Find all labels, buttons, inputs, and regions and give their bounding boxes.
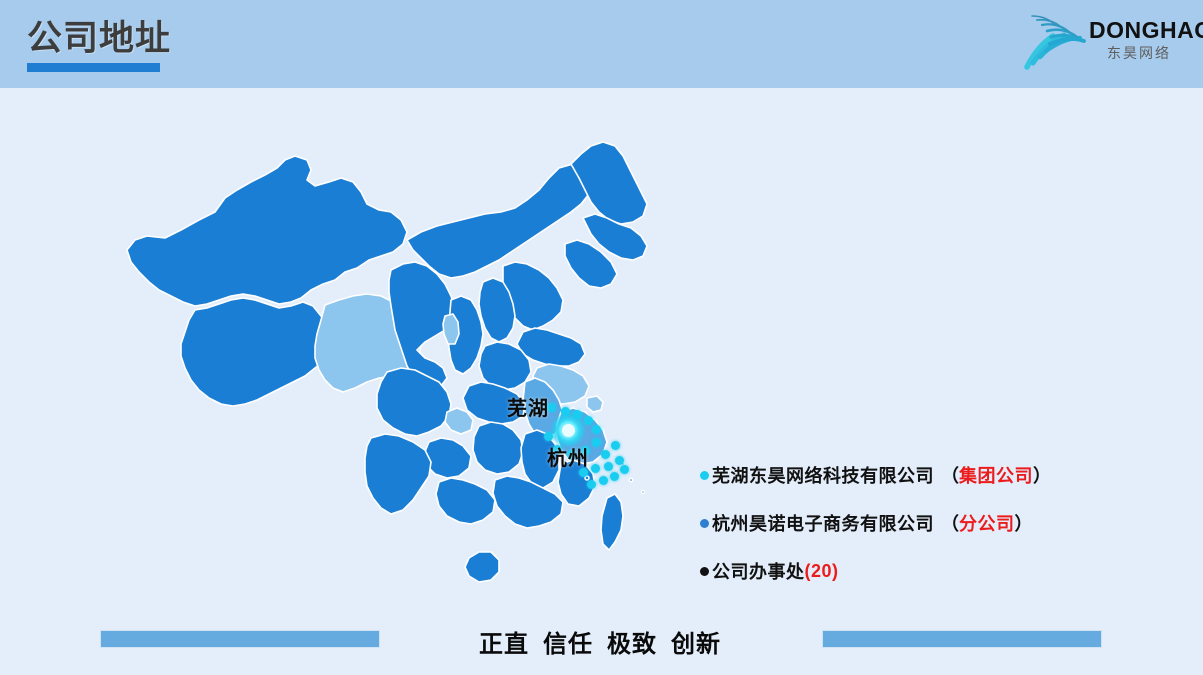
page-title: 公司地址: [27, 17, 171, 61]
company-logo: DONGHAO 东昊网络: [1013, 10, 1189, 72]
legend-label: 芜湖东昊网络科技有限公司: [712, 462, 934, 488]
office-marker[interactable]: [604, 462, 613, 471]
slogan-word-2: 信任: [543, 631, 593, 658]
headquarters-marker-core[interactable]: [562, 424, 575, 437]
legend-item-group-company: 芜湖东昊网络科技有限公司 （ 集团公司 ）: [700, 462, 1120, 488]
slogan-word-3: 极致: [607, 631, 657, 658]
legend-tag: 集团公司: [959, 462, 1033, 488]
legend-item-branch-company: 杭州昊诺电子商务有限公司 （ 分公司 ）: [700, 510, 1120, 536]
footer-bar-left: [100, 630, 380, 648]
legend: 芜湖东昊网络科技有限公司 （ 集团公司 ） 杭州昊诺电子商务有限公司 （ 分公司…: [700, 462, 1120, 584]
donghao-feather-logo-icon: [1017, 11, 1091, 71]
legend-label: 杭州昊诺电子商务有限公司: [712, 510, 934, 536]
logo-chinese-name: 东昊网络: [1089, 44, 1189, 63]
slogan-word-4: 创新: [671, 631, 721, 658]
legend-bullet-blue-icon: [700, 519, 709, 528]
office-marker[interactable]: [615, 456, 624, 465]
legend-tag: (20): [805, 561, 839, 582]
city-label-hangzhou: 杭州: [547, 442, 589, 471]
office-marker[interactable]: [592, 438, 601, 447]
page-header: 公司地址 DONGHAO 东昊网络: [0, 0, 1203, 88]
office-marker[interactable]: [601, 450, 610, 459]
office-marker[interactable]: [561, 407, 570, 416]
legend-close-paren: ）: [1033, 462, 1051, 488]
office-marker[interactable]: [611, 441, 620, 450]
city-label-wuhu: 芜湖: [507, 392, 549, 421]
legend-tag: 分公司: [959, 510, 1015, 536]
office-marker[interactable]: [599, 476, 608, 485]
office-marker[interactable]: [587, 480, 596, 489]
logo-wordmark: DONGHAO 东昊网络: [1089, 18, 1189, 63]
legend-close-paren: ）: [1015, 510, 1033, 536]
office-marker[interactable]: [592, 425, 601, 434]
footer-slogan: 正直信任极致创新: [440, 624, 760, 659]
office-marker[interactable]: [591, 464, 600, 473]
slogan-word-1: 正直: [479, 631, 529, 658]
legend-open-paren: （: [941, 510, 959, 536]
map-marker-layer: 芜湖 杭州: [95, 120, 695, 600]
office-marker[interactable]: [620, 465, 629, 474]
legend-label: 公司办事处: [712, 558, 805, 584]
office-marker[interactable]: [610, 472, 619, 481]
page-title-group: 公司地址: [27, 17, 171, 72]
logo-english-name: DONGHAO: [1089, 18, 1189, 43]
title-underline: [27, 63, 160, 72]
footer-bar-right: [822, 630, 1102, 648]
legend-item-offices: 公司办事处 (20): [700, 558, 1120, 584]
office-marker[interactable]: [573, 410, 582, 419]
legend-bullet-dark-icon: [700, 567, 709, 576]
office-marker[interactable]: [584, 416, 593, 425]
office-marker[interactable]: [544, 432, 553, 441]
legend-open-paren: （: [941, 462, 959, 488]
legend-bullet-cyan-icon: [700, 471, 709, 480]
